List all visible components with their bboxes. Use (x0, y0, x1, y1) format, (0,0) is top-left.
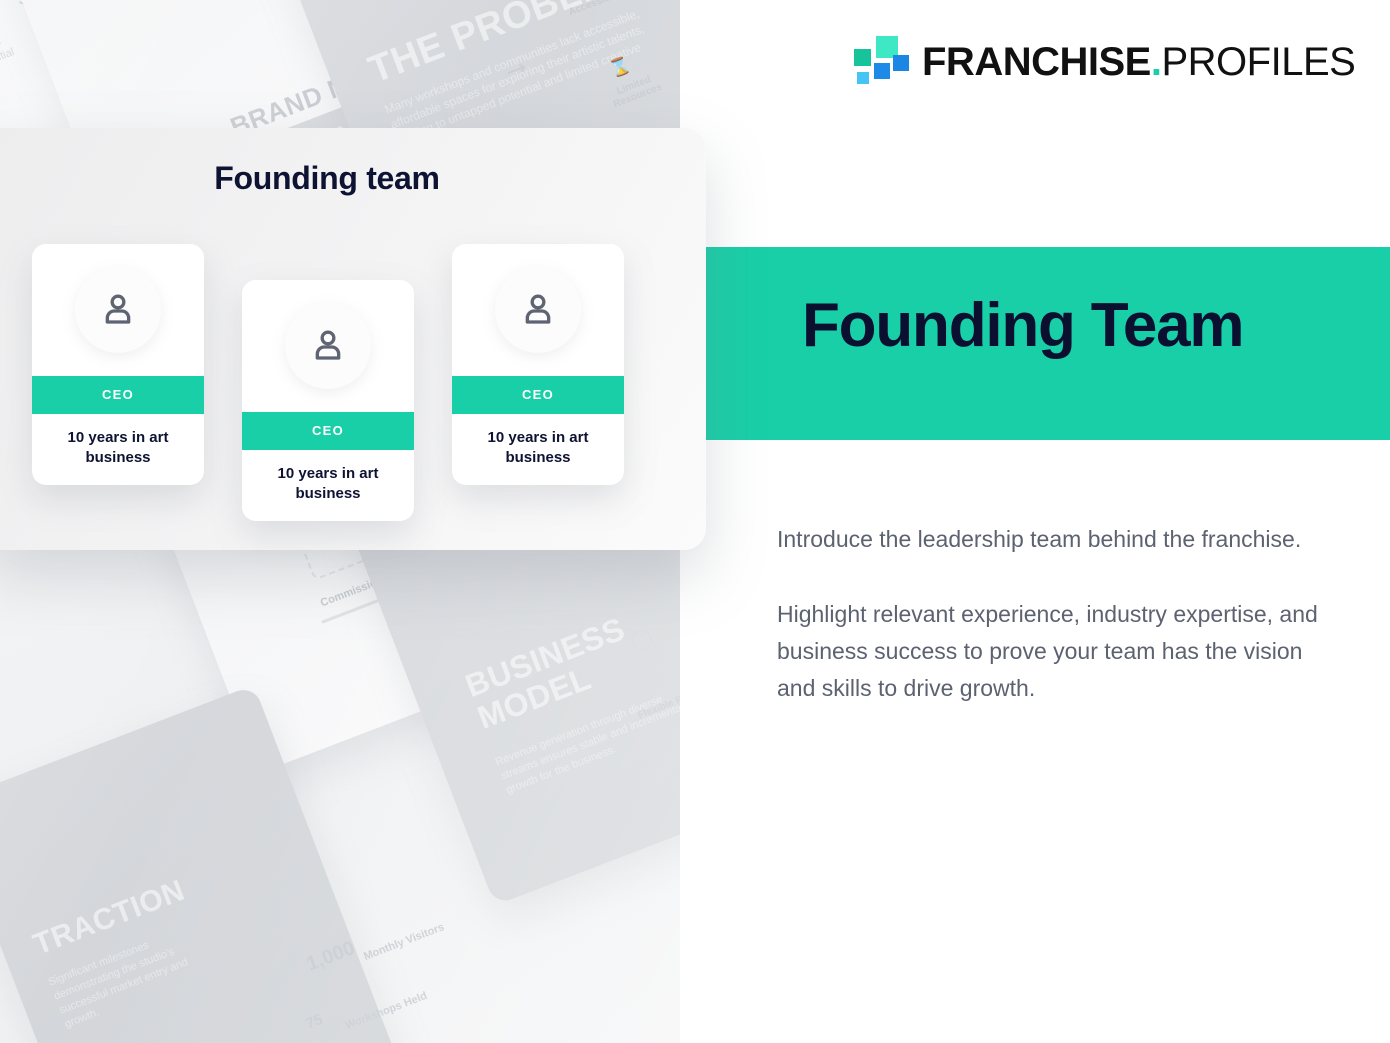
background-slide-subtitle: Revenue generation through diverse strea… (493, 681, 680, 798)
background-slide-metrics: 1,000 Monthly Visitors 75 Workshops Held (188, 749, 613, 1043)
logo-wordmark: FRANCHISE.PROFILES (922, 42, 1355, 82)
background-slide-subtitle: Significant milestones demonstrating the… (47, 916, 227, 1032)
avatar-area (242, 280, 414, 412)
member-description: 10 years in art business (452, 414, 624, 485)
page-title: Founding Team (802, 295, 1243, 357)
right-content-area: FRANCHISE.PROFILES Founding Team Introdu… (680, 0, 1390, 1043)
person-icon (518, 290, 558, 330)
arrow-right-icon: ⟶ (494, 55, 530, 89)
background-slide-subtitle: Growing preferences in urban and suburba… (0, 26, 31, 122)
logo-square-teal-dark (854, 49, 871, 66)
background-slide-pricing: ◯ Flexible Pricing (539, 543, 680, 977)
founding-team-preview-panel: Founding team CEO 10 years in art busine… (0, 128, 706, 550)
background-label-accessibility: Lack of Accessibility (552, 0, 640, 23)
member-description: 10 years in art business (32, 414, 204, 485)
background-metric-visitors-value: 1,000 (303, 937, 358, 976)
role-badge: CEO (452, 376, 624, 414)
body-paragraph-1: Introduce the leadership team behind the… (777, 521, 1342, 558)
background-metric-workshops-value: 75 (304, 1011, 326, 1033)
logo-square-sky (857, 72, 869, 84)
background-label-commissioned-art-sales: Commissioned Art Sales (319, 552, 444, 609)
body-paragraph-2: Highlight relevant experience, industry … (777, 596, 1342, 708)
body-copy: Introduce the leadership team behind the… (777, 521, 1342, 707)
background-label-flexible-pricing: Flexible Pricing (634, 683, 680, 722)
avatar (75, 267, 161, 353)
member-description: 10 years in art business (242, 450, 414, 521)
logo-word-profiles: PROFILES (1161, 40, 1355, 84)
chart-icon: ◯ (626, 623, 656, 654)
logo-mark-icon (852, 36, 908, 88)
avatar-area (452, 244, 624, 376)
background-metric-workshops-label: Workshops Held (344, 990, 429, 1032)
person-icon (308, 326, 348, 366)
avatar-area (32, 244, 204, 376)
hourglass-icon: ⌛ (607, 55, 634, 81)
background-slide-title: TRACTION (29, 875, 189, 961)
logo-square-blue (874, 63, 890, 79)
person-icon (98, 290, 138, 330)
team-member-card[interactable]: CEO 10 years in art business (32, 244, 204, 485)
logo-square-blue-2 (893, 55, 909, 71)
role-badge: CEO (242, 412, 414, 450)
section-banner: Founding Team (705, 247, 1390, 440)
role-badge: CEO (32, 376, 204, 414)
logo-word-franchise: FRANCHISE (922, 40, 1151, 84)
avatar (495, 267, 581, 353)
preview-card-list: CEO 10 years in art business CEO 10 year… (0, 128, 706, 550)
logo-separator-dot: . (1151, 40, 1162, 84)
background-slide-title: BUSINESS MODEL (461, 608, 653, 735)
avatar (285, 303, 371, 389)
background-label-limited-resources: Limited Resources (592, 65, 680, 116)
background-slide-traction: TRACTION Significant milestones demonstr… (0, 685, 404, 1043)
background-slide-title: THE PROBLEM (364, 0, 642, 91)
brand-logo[interactable]: FRANCHISE.PROFILES (852, 36, 1355, 88)
team-member-card[interactable]: CEO 10 years in art business (452, 244, 624, 485)
team-member-card[interactable]: CEO 10 years in art business (242, 280, 414, 521)
background-metric-visitors-label: Monthly Visitors (362, 921, 446, 963)
curved-arrow-icon: ⤵ (0, 0, 35, 19)
background-line (321, 574, 443, 623)
